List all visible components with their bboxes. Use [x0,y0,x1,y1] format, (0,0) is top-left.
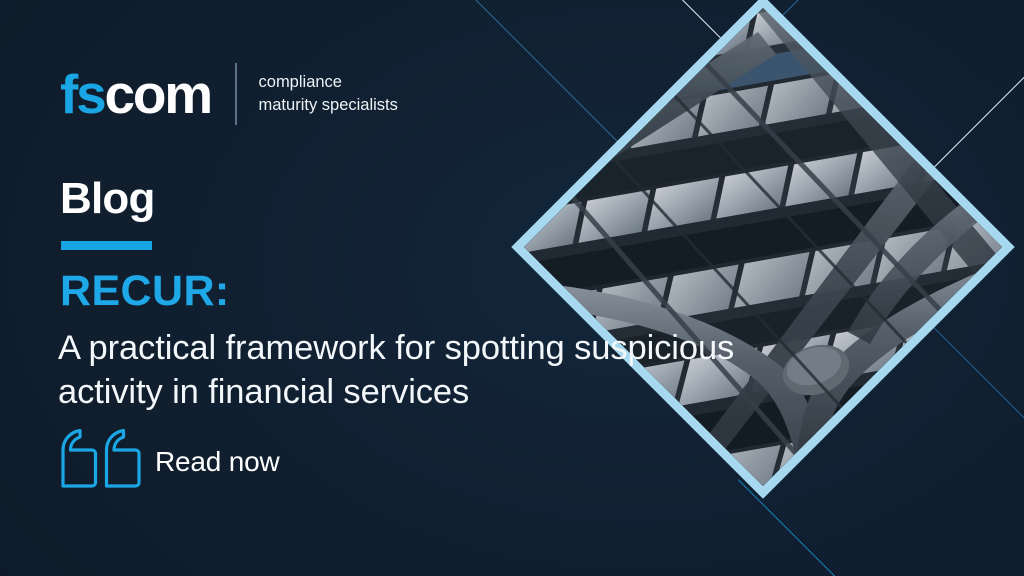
logo-wordmark-prefix: fs [60,63,105,125]
read-now-label: Read now [155,446,279,478]
logo-tagline-line-1: compliance [259,71,398,94]
double-quote-icon [59,428,143,490]
read-now-cta[interactable]: Read now [59,428,279,490]
logo-tagline: compliance maturity specialists [259,71,398,118]
architecture-photo [511,0,1014,499]
headline-kicker: RECUR: [60,270,230,313]
brand-logo[interactable]: fscom compliance maturity specialists [60,63,398,125]
category-label: Blog [60,177,155,221]
logo-wordmark: fscom [60,67,211,122]
logo-divider [235,63,237,125]
hero-image-clip [511,0,1014,499]
logo-tagline-line-2: maturity specialists [259,94,398,117]
logo-wordmark-suffix: com [105,63,212,125]
hero-image-diamond [511,0,1014,499]
headline-body: A practical framework for spotting suspi… [58,326,748,414]
category-underline-rule [61,241,152,250]
promo-banner: fscom compliance maturity specialists Bl… [0,0,1024,576]
